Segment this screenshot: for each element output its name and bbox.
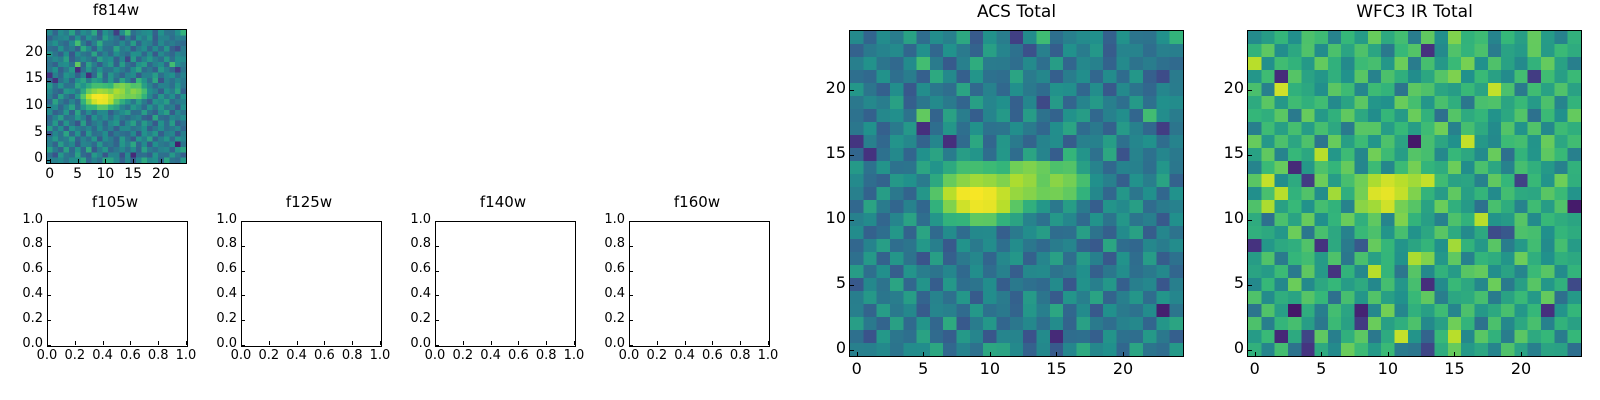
y-tick-label: 0.4: [0, 286, 43, 301]
heatmap-f814w: [47, 30, 186, 163]
y-tickmark: [241, 345, 245, 346]
x-tickmark: [1056, 352, 1057, 356]
y-tick-label: 5: [1196, 273, 1244, 292]
axes-f160w: [629, 221, 770, 347]
x-tickmark: [269, 341, 270, 345]
y-tick-label: 0.4: [383, 286, 431, 301]
x-tick-label: 15: [1026, 359, 1086, 378]
x-tickmark: [857, 352, 858, 356]
x-tickmark: [923, 352, 924, 356]
y-tick-label: 0.6: [383, 261, 431, 276]
y-tick-label: 0.2: [0, 311, 43, 326]
y-tickmark: [1248, 285, 1252, 286]
x-tickmark: [297, 341, 298, 345]
y-tickmark: [47, 320, 51, 321]
x-tick-label: 10: [1358, 359, 1418, 378]
x-tick-label: 15: [1424, 359, 1484, 378]
axes-f125w: [241, 221, 382, 347]
x-tickmark: [75, 341, 76, 345]
x-tickmark: [574, 341, 575, 345]
y-tick-label: 0: [0, 150, 43, 166]
x-tickmark: [352, 341, 353, 345]
axes-f140w: [435, 221, 576, 347]
y-tickmark: [47, 221, 51, 222]
x-tick-label: 20: [131, 166, 191, 182]
heatmap-acs-total: [850, 31, 1183, 356]
x-tickmark: [768, 341, 769, 345]
panel-title-f105w: f105w: [45, 193, 185, 211]
y-tickmark: [1248, 220, 1252, 221]
y-tick-label: 5: [0, 124, 43, 140]
y-tickmark: [435, 246, 439, 247]
y-tickmark: [47, 160, 51, 161]
y-tick-label: 0.6: [577, 261, 625, 276]
y-tick-label: 20: [798, 78, 846, 97]
y-tickmark: [629, 345, 633, 346]
y-tick-label: 20: [0, 44, 43, 60]
y-tick-label: 0.2: [577, 311, 625, 326]
y-tickmark: [47, 271, 51, 272]
x-tickmark: [380, 341, 381, 345]
x-tickmark: [158, 341, 159, 345]
y-tickmark: [1248, 155, 1252, 156]
y-tickmark: [1248, 350, 1252, 351]
x-tick-label: 0: [1225, 359, 1285, 378]
y-tickmark: [47, 54, 51, 55]
x-tickmark: [324, 341, 325, 345]
panel-title-wfc3-ir-total: WFC3 IR Total: [1248, 2, 1581, 22]
y-tick-label: 1.0: [383, 212, 431, 227]
y-tickmark: [241, 271, 245, 272]
x-tickmark: [1123, 352, 1124, 356]
x-tickmark: [1388, 352, 1389, 356]
x-tickmark: [1521, 352, 1522, 356]
y-tickmark: [850, 220, 854, 221]
x-tick-label: 10: [960, 359, 1020, 378]
x-tickmark: [105, 159, 106, 163]
y-tickmark: [435, 221, 439, 222]
y-tickmark: [629, 221, 633, 222]
y-tickmark: [850, 155, 854, 156]
x-tickmark: [463, 341, 464, 345]
y-tickmark: [241, 246, 245, 247]
heatmap-wfc3-ir-total: [1248, 31, 1581, 356]
x-tickmark: [685, 341, 686, 345]
y-tickmark: [241, 221, 245, 222]
x-tickmark: [78, 159, 79, 163]
x-tickmark: [518, 341, 519, 345]
x-tick-label: 20: [1093, 359, 1153, 378]
y-tickmark: [47, 295, 51, 296]
y-tick-label: 0.6: [0, 261, 43, 276]
y-tick-label: 0.0: [189, 336, 237, 351]
y-tick-label: 10: [0, 97, 43, 113]
y-tick-label: 15: [0, 70, 43, 86]
panel-title-f160w: f160w: [627, 193, 767, 211]
x-tickmark: [133, 159, 134, 163]
y-tickmark: [241, 295, 245, 296]
y-tick-label: 0: [798, 338, 846, 357]
x-tickmark: [1454, 352, 1455, 356]
y-tick-label: 0.4: [577, 286, 625, 301]
y-tick-label: 0.2: [383, 311, 431, 326]
x-tickmark: [103, 341, 104, 345]
y-tickmark: [1248, 90, 1252, 91]
y-tickmark: [629, 295, 633, 296]
y-tickmark: [47, 246, 51, 247]
y-tickmark: [850, 90, 854, 91]
panel-title-f140w: f140w: [433, 193, 573, 211]
x-tick-label: 20: [1491, 359, 1551, 378]
y-tick-label: 0.0: [0, 336, 43, 351]
y-tick-label: 0: [1196, 338, 1244, 357]
y-tick-label: 0.8: [189, 236, 237, 251]
x-tickmark: [990, 352, 991, 356]
y-tick-label: 5: [798, 273, 846, 292]
x-tickmark: [740, 341, 741, 345]
y-tickmark: [435, 345, 439, 346]
y-tickmark: [629, 271, 633, 272]
y-tick-label: 15: [1196, 143, 1244, 162]
y-tickmark: [435, 295, 439, 296]
y-tick-label: 0.8: [383, 236, 431, 251]
y-tick-label: 0.0: [383, 336, 431, 351]
y-tick-label: 20: [1196, 78, 1244, 97]
y-tick-label: 0.6: [189, 261, 237, 276]
x-tickmark: [161, 159, 162, 163]
x-tickmark: [1321, 352, 1322, 356]
x-tick-label: 5: [1291, 359, 1351, 378]
x-tickmark: [130, 341, 131, 345]
x-tickmark: [186, 341, 187, 345]
y-tickmark: [47, 345, 51, 346]
x-tickmark: [491, 341, 492, 345]
axes-f105w: [47, 221, 188, 347]
y-tickmark: [47, 134, 51, 135]
y-tickmark: [850, 350, 854, 351]
x-tick-label: 1.0: [738, 348, 798, 363]
panel-title-f814w: f814w: [46, 1, 186, 19]
y-tick-label: 10: [798, 208, 846, 227]
y-tick-label: 0.4: [189, 286, 237, 301]
y-tick-label: 0.8: [0, 236, 43, 251]
x-tickmark: [657, 341, 658, 345]
y-tickmark: [435, 320, 439, 321]
y-tickmark: [850, 285, 854, 286]
y-tick-label: 1.0: [0, 212, 43, 227]
x-tickmark: [546, 341, 547, 345]
y-tickmark: [241, 320, 245, 321]
x-tickmark: [1255, 352, 1256, 356]
x-tick-label: 5: [893, 359, 953, 378]
y-tick-label: 0.8: [577, 236, 625, 251]
y-tickmark: [629, 246, 633, 247]
y-tick-label: 1.0: [189, 212, 237, 227]
x-tick-label: 0: [827, 359, 887, 378]
y-tick-label: 15: [798, 143, 846, 162]
y-tick-label: 0.2: [189, 311, 237, 326]
y-tickmark: [629, 320, 633, 321]
y-tickmark: [435, 271, 439, 272]
panel-title-f125w: f125w: [239, 193, 379, 211]
y-tick-label: 1.0: [577, 212, 625, 227]
panel-title-acs-total: ACS Total: [850, 2, 1183, 22]
y-tickmark: [47, 81, 51, 82]
x-tickmark: [712, 341, 713, 345]
y-tickmark: [47, 107, 51, 108]
y-tick-label: 10: [1196, 208, 1244, 227]
y-tick-label: 0.0: [577, 336, 625, 351]
